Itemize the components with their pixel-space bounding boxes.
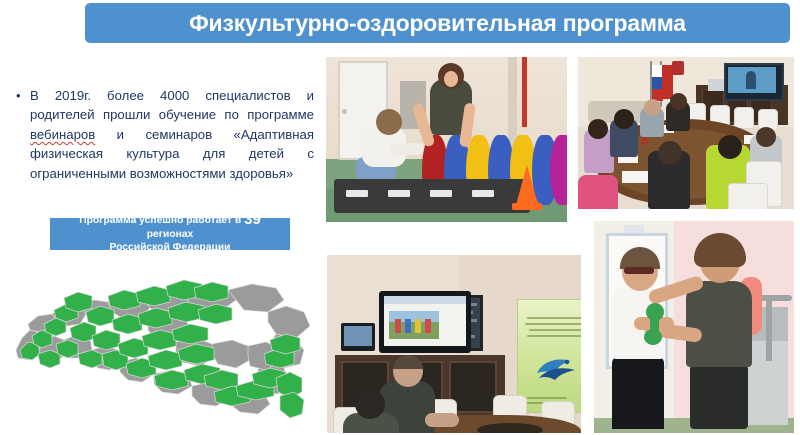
- page-title: Физкультурно-оздоровительная программа: [189, 10, 686, 37]
- bullet-list-item: • В 2019г. более 4000 специалистов и род…: [14, 86, 314, 183]
- caption-line-2: Российской Федерации: [110, 242, 231, 253]
- regions-count: 39: [244, 211, 261, 228]
- slide-title-bar: Физкультурно-оздоровительная программа: [85, 3, 790, 43]
- regions-caption-box: Программа успешно работает в 39 регионах…: [50, 218, 290, 250]
- bullet-paragraph: В 2019г. более 4000 специалистов и родит…: [30, 86, 314, 183]
- photo-webinar: [327, 255, 581, 433]
- bullet-text-part-1: В 2019г. более 4000 специалистов и родит…: [30, 88, 314, 122]
- misspelled-word: вебинаров: [30, 127, 95, 142]
- photo-dumbbell: [594, 221, 794, 433]
- russia-map-svg: [8, 258, 320, 430]
- banner-bird-logo: [533, 353, 581, 383]
- bullet-block: • В 2019г. более 4000 специалистов и род…: [14, 86, 314, 183]
- slide-canvas: Физкультурно-оздоровительная программа •…: [0, 0, 800, 435]
- regions-caption-text: Программа успешно работает в 39 регионах…: [50, 213, 290, 255]
- photo-gym-tunnel: [326, 57, 567, 222]
- russia-regions-map: [8, 258, 320, 430]
- photo-conference: [578, 57, 794, 209]
- bullet-marker: •: [14, 86, 30, 105]
- caption-part-1: Программа успешно работает в: [79, 215, 244, 226]
- caption-part-2: регионах: [147, 229, 194, 240]
